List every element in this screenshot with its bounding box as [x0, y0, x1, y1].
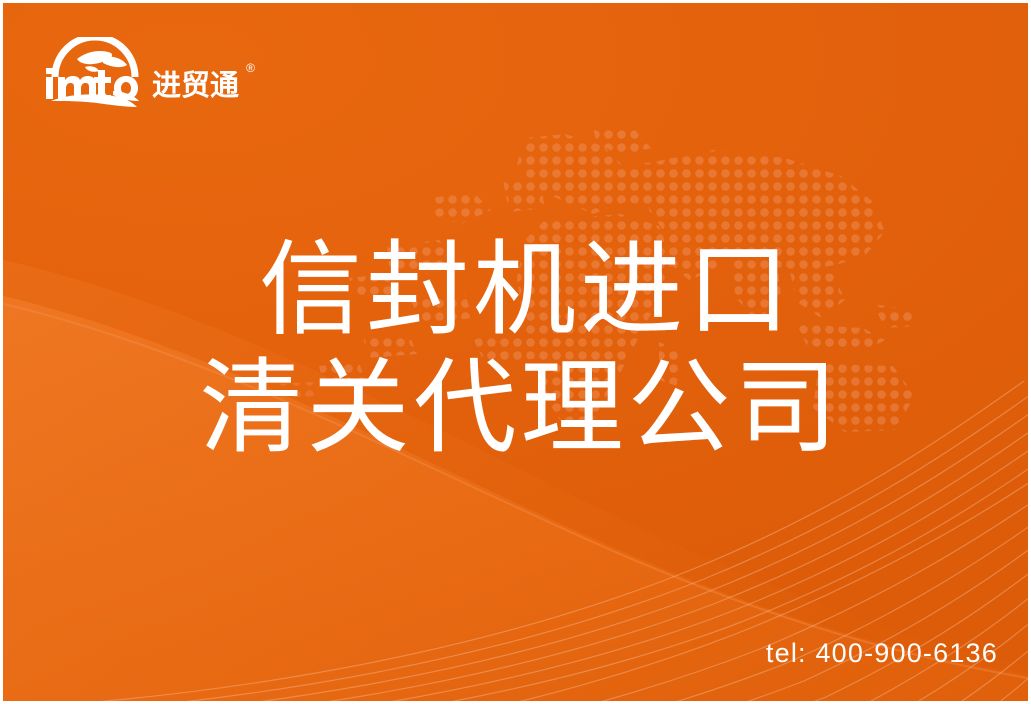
promo-banner: 进贸通 ® 信封机进口 清关代理公司 tel: 400-900-6136: [0, 0, 1031, 704]
brand-chinese-text: 进贸通: [152, 70, 239, 102]
headline-line-2: 清关代理公司: [3, 349, 1031, 467]
registered-mark-icon: ®: [246, 62, 255, 74]
brand-logo[interactable]: 进贸通 ®: [41, 35, 239, 109]
headline-line-1: 信封机进口: [3, 231, 1031, 349]
headline-block: 信封机进口 清关代理公司: [3, 231, 1031, 467]
brand-chinese-label: 进贸通 ®: [152, 72, 239, 109]
contact-phone: tel: 400-900-6136: [766, 640, 998, 667]
globe-dotted-icon: [41, 37, 149, 109]
